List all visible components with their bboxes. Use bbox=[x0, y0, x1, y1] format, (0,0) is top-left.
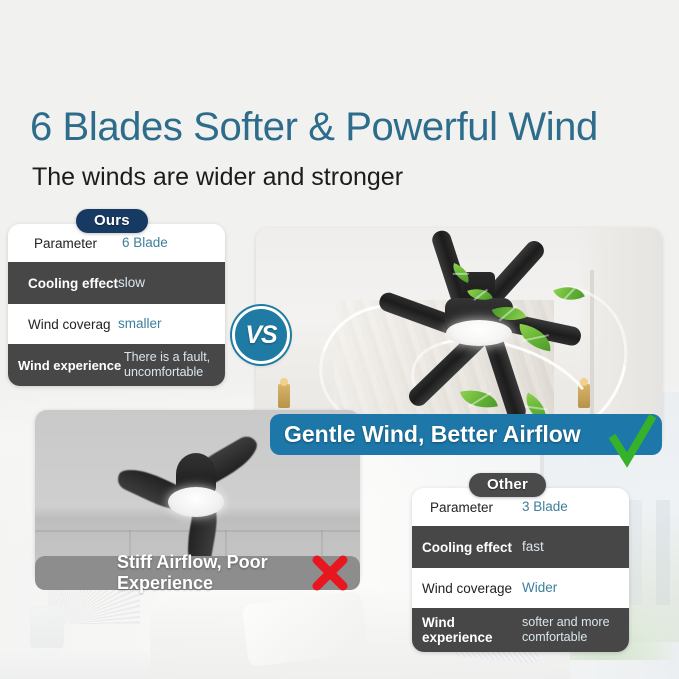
table-row: Cooling effect slow bbox=[8, 262, 225, 304]
page-subtitle: The winds are wider and stronger bbox=[32, 163, 403, 192]
row-parameter-label: Cooling effect bbox=[18, 276, 118, 291]
row-parameter-label: Wind experience bbox=[18, 358, 124, 373]
infographic-canvas: 6 Blades Softer & Powerful Wind The wind… bbox=[0, 0, 679, 679]
good-airflow-banner-label: Gentle Wind, Better Airflow bbox=[284, 421, 581, 448]
row-value: 6 Blade bbox=[122, 235, 215, 251]
table-row: Wind coverage Wider bbox=[412, 568, 629, 608]
row-value: fast bbox=[522, 539, 619, 555]
row-value: smaller bbox=[118, 316, 215, 332]
row-parameter-label: Wind coverag bbox=[18, 317, 118, 332]
fan-light-kit bbox=[168, 487, 224, 517]
row-value: 3 Blade bbox=[522, 499, 619, 515]
row-value: softer and more comfortable bbox=[522, 615, 619, 646]
other-comparison-table: Parameter 3 Blade Cooling effect fast Wi… bbox=[412, 488, 629, 652]
green-check-icon bbox=[606, 410, 658, 470]
three-blade-fan bbox=[121, 426, 271, 536]
vs-badge: VS bbox=[232, 306, 290, 364]
table-row: Wind experience There is a fault, uncomf… bbox=[8, 344, 225, 386]
row-parameter-label: Wind experience bbox=[422, 615, 522, 645]
row-value: There is a fault, uncomfortable bbox=[124, 350, 215, 381]
six-blade-fan bbox=[374, 236, 584, 396]
good-airflow-banner: Gentle Wind, Better Airflow bbox=[270, 414, 662, 455]
vs-label: VS bbox=[245, 321, 276, 350]
wall-sconce-icon bbox=[278, 384, 290, 408]
row-value: Wider bbox=[522, 580, 619, 596]
ours-badge: Ours bbox=[76, 209, 148, 233]
table-row: Wind coverag smaller bbox=[8, 304, 225, 344]
other-badge: Other bbox=[469, 473, 546, 497]
row-parameter-label: Parameter bbox=[422, 500, 522, 515]
row-parameter-label: Parameter bbox=[18, 236, 122, 251]
side-table-backdrop bbox=[0, 648, 150, 679]
row-parameter-label: Wind coverage bbox=[422, 581, 522, 596]
table-row: Wind experience softer and more comforta… bbox=[412, 608, 629, 652]
ours-comparison-table: Parameter 6 Blade Cooling effect slow Wi… bbox=[8, 224, 225, 386]
fan-light-kit bbox=[446, 320, 512, 346]
row-value: slow bbox=[118, 275, 215, 291]
table-row: Cooling effect fast bbox=[412, 526, 629, 568]
red-x-icon bbox=[310, 553, 350, 593]
page-title: 6 Blades Softer & Powerful Wind bbox=[30, 105, 598, 150]
row-parameter-label: Cooling effect bbox=[422, 540, 522, 555]
